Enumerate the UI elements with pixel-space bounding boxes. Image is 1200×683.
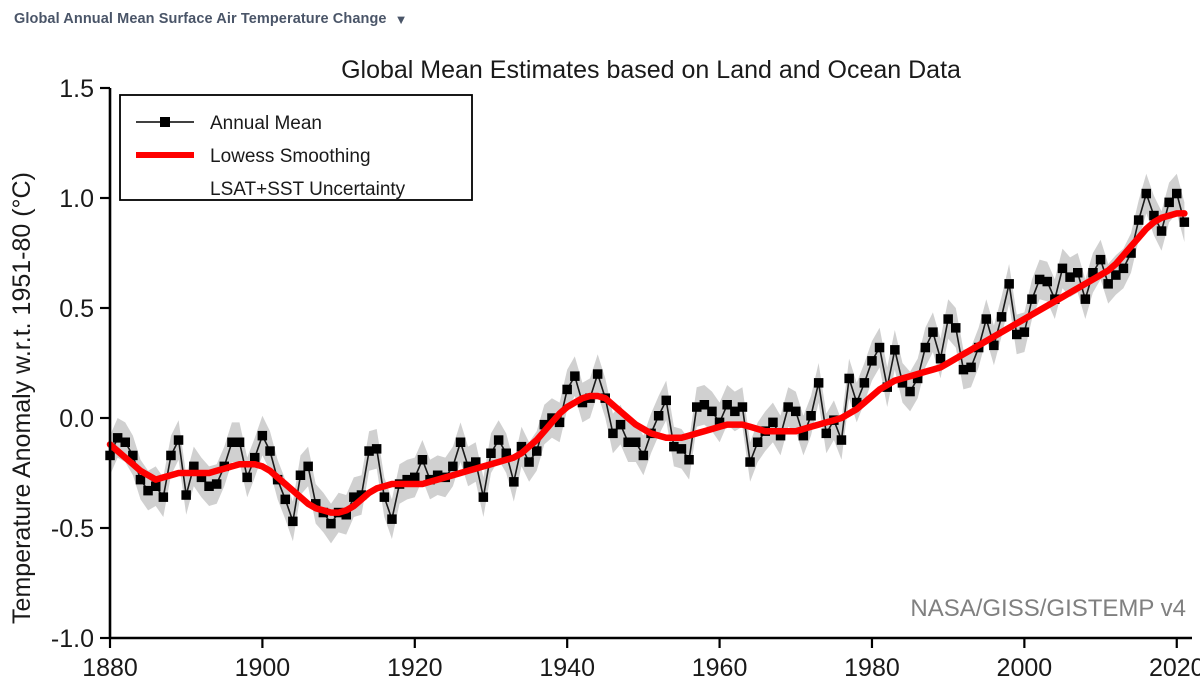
data-point-marker bbox=[867, 356, 877, 366]
y-axis-label: Temperature Anomaly w.r.t. 1951-80 (°C) bbox=[8, 172, 36, 624]
data-point-marker bbox=[928, 327, 938, 337]
data-point-marker bbox=[814, 378, 824, 388]
chevron-down-icon[interactable]: ▼ bbox=[395, 13, 408, 26]
y-tick-label: 1.5 bbox=[59, 75, 94, 103]
data-point-marker bbox=[890, 345, 900, 355]
y-axis-ticks: -1.0-0.50.00.51.01.5 bbox=[51, 75, 110, 653]
data-point-marker bbox=[1172, 189, 1182, 199]
annual-mean-markers bbox=[105, 189, 1189, 529]
data-point-marker bbox=[486, 449, 496, 459]
data-point-marker bbox=[456, 438, 466, 448]
x-tick-label: 1880 bbox=[82, 654, 138, 682]
data-point-marker bbox=[372, 444, 382, 454]
uncertainty-polygon bbox=[110, 174, 1184, 544]
data-point-marker bbox=[1073, 268, 1083, 278]
data-point-marker bbox=[662, 396, 672, 406]
data-point-marker bbox=[410, 473, 420, 483]
data-point-marker bbox=[174, 435, 184, 445]
data-point-marker bbox=[982, 314, 992, 324]
data-point-marker bbox=[212, 479, 222, 489]
data-point-marker bbox=[844, 374, 854, 384]
data-point-marker bbox=[532, 446, 542, 456]
data-point-marker bbox=[966, 363, 976, 373]
y-tick-label: -0.5 bbox=[51, 515, 94, 543]
data-point-marker bbox=[1103, 279, 1113, 289]
data-point-marker bbox=[1043, 277, 1053, 287]
data-point-marker bbox=[593, 369, 603, 379]
data-point-marker bbox=[265, 446, 275, 456]
temperature-anomaly-chart: Global Mean Estimates based on Land and … bbox=[0, 38, 1200, 683]
data-point-marker bbox=[921, 343, 931, 353]
data-point-marker bbox=[479, 492, 489, 502]
data-point-marker bbox=[951, 323, 961, 333]
data-point-marker bbox=[242, 473, 252, 483]
data-point-marker bbox=[684, 455, 694, 465]
data-point-marker bbox=[791, 407, 801, 417]
x-tick-label: 1920 bbox=[387, 654, 443, 682]
x-tick-label: 1940 bbox=[539, 654, 595, 682]
data-point-marker bbox=[654, 411, 664, 421]
data-point-marker bbox=[494, 435, 504, 445]
data-point-marker bbox=[608, 429, 618, 439]
data-point-marker bbox=[1180, 217, 1190, 227]
data-point-marker bbox=[860, 378, 870, 388]
data-point-marker bbox=[753, 438, 763, 448]
data-point-marker bbox=[258, 431, 268, 441]
data-point-marker bbox=[1081, 294, 1091, 304]
data-point-marker bbox=[768, 418, 778, 428]
data-point-marker bbox=[1058, 264, 1068, 274]
data-point-marker bbox=[1119, 264, 1129, 274]
chart-title: Global Mean Estimates based on Land and … bbox=[341, 56, 961, 84]
data-point-marker bbox=[1164, 198, 1174, 208]
data-point-marker bbox=[997, 312, 1007, 322]
data-point-marker bbox=[1004, 279, 1014, 289]
data-point-marker bbox=[524, 457, 534, 467]
data-point-marker bbox=[1142, 189, 1152, 199]
chart-svg: Global Mean Estimates based on Land and … bbox=[0, 38, 1200, 683]
page-header: Global Annual Mean Surface Air Temperatu… bbox=[0, 0, 1200, 38]
data-point-marker bbox=[639, 451, 649, 461]
data-point-marker bbox=[387, 514, 397, 524]
data-point-marker bbox=[1157, 226, 1167, 236]
x-tick-label: 2020 bbox=[1149, 654, 1200, 682]
data-point-marker bbox=[738, 402, 748, 412]
data-point-marker bbox=[562, 385, 572, 395]
data-point-marker bbox=[281, 495, 291, 505]
legend-label: Annual Mean bbox=[210, 113, 322, 134]
data-point-marker bbox=[288, 517, 298, 527]
data-point-marker bbox=[235, 438, 245, 448]
legend-square-swatch bbox=[160, 117, 170, 127]
x-tick-label: 1960 bbox=[692, 654, 748, 682]
x-tick-label: 1980 bbox=[844, 654, 900, 682]
data-point-marker bbox=[875, 343, 885, 353]
data-point-marker bbox=[943, 314, 953, 324]
data-point-marker bbox=[707, 407, 717, 417]
data-point-marker bbox=[189, 462, 199, 472]
data-point-marker bbox=[296, 471, 306, 481]
chart-legend: Annual MeanLowess SmoothingLSAT+SST Unce… bbox=[120, 95, 472, 200]
data-point-marker bbox=[159, 492, 169, 502]
data-point-marker bbox=[745, 457, 755, 467]
data-point-marker bbox=[616, 420, 626, 430]
x-tick-label: 1900 bbox=[235, 654, 291, 682]
data-point-marker bbox=[905, 387, 915, 397]
data-point-marker bbox=[181, 490, 191, 500]
lowess-smoothing-line bbox=[110, 213, 1184, 512]
data-point-marker bbox=[303, 462, 313, 472]
y-tick-label: 0.0 bbox=[59, 405, 94, 433]
data-point-marker bbox=[509, 477, 518, 487]
x-axis-ticks: 18801900192019401960198020002020 bbox=[82, 638, 1200, 682]
y-tick-label: 0.5 bbox=[59, 295, 94, 323]
data-point-marker bbox=[418, 455, 428, 465]
x-tick-label: 2000 bbox=[997, 654, 1053, 682]
data-point-marker bbox=[151, 482, 161, 492]
data-point-marker bbox=[806, 411, 816, 421]
data-point-marker bbox=[1134, 215, 1144, 225]
data-point-marker bbox=[570, 371, 580, 381]
data-point-marker bbox=[121, 438, 131, 448]
page-title: Global Annual Mean Surface Air Temperatu… bbox=[14, 11, 387, 27]
uncertainty-band bbox=[110, 174, 1184, 544]
data-point-marker bbox=[837, 435, 847, 445]
data-point-marker bbox=[677, 444, 687, 454]
credit-text: NASA/GISS/GISTEMP v4 bbox=[910, 595, 1186, 622]
y-tick-label: 1.0 bbox=[59, 185, 94, 213]
data-point-marker bbox=[166, 451, 176, 461]
legend-label: Lowess Smoothing bbox=[210, 146, 371, 167]
legend-label: LSAT+SST Uncertainty bbox=[210, 179, 406, 200]
data-point-marker bbox=[1027, 294, 1037, 304]
data-point-marker bbox=[380, 492, 390, 502]
data-point-marker bbox=[822, 429, 832, 439]
data-point-marker bbox=[326, 519, 336, 529]
data-point-marker bbox=[631, 438, 641, 448]
data-point-marker bbox=[1096, 255, 1106, 265]
y-tick-label: -1.0 bbox=[51, 625, 94, 653]
data-point-marker bbox=[448, 462, 458, 472]
data-point-marker bbox=[1020, 327, 1030, 337]
